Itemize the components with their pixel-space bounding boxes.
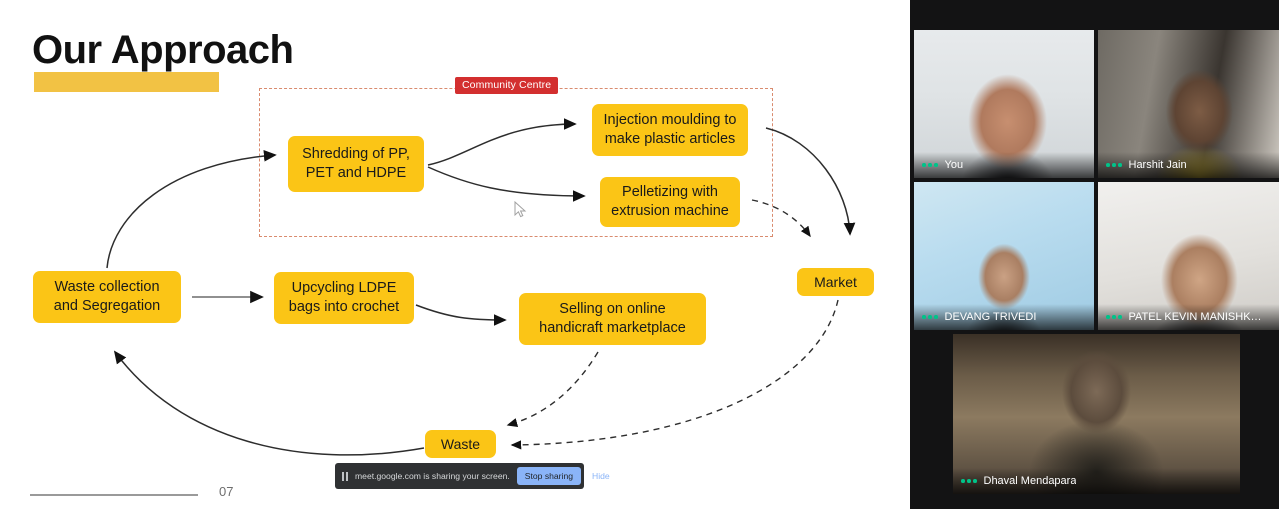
- node-upcycling-ldpe[interactable]: Upcycling LDPE bags into crochet: [274, 272, 414, 324]
- footer-rule: [30, 494, 198, 496]
- participant-tile-dhaval-mendapara[interactable]: Dhaval Mendapara: [953, 334, 1240, 494]
- audio-indicator-icon: [1106, 163, 1122, 167]
- participant-name: Harshit Jain: [1129, 159, 1187, 171]
- node-pelletizing[interactable]: Pelletizing with extrusion machine: [600, 177, 740, 227]
- audio-indicator-icon: [1106, 315, 1122, 319]
- nameplate: You: [914, 152, 1094, 178]
- audio-indicator-icon: [922, 315, 938, 319]
- share-message: meet.google.com is sharing your screen.: [355, 471, 510, 481]
- node-market[interactable]: Market: [797, 268, 874, 296]
- participant-tile-harshit-jain[interactable]: Harshit Jain: [1098, 30, 1279, 178]
- node-shredding[interactable]: Shredding of PP, PET and HDPE: [288, 136, 424, 192]
- node-online-selling[interactable]: Selling on online handicraft marketplace: [519, 293, 706, 345]
- nameplate: Harshit Jain: [1098, 152, 1279, 178]
- participant-name: You: [945, 159, 964, 171]
- mouse-cursor: [514, 201, 528, 219]
- nameplate: DEVANG TRIVEDI: [914, 304, 1094, 330]
- participant-name: DEVANG TRIVEDI: [945, 311, 1037, 323]
- participant-rail: You Harshit Jain DEVANG TRIVEDI PATEL KE…: [910, 0, 1279, 509]
- presentation-slide: Our Approach Community Centre: [0, 0, 910, 509]
- node-waste-collection[interactable]: Waste collection and Segregation: [33, 271, 181, 323]
- page-number: 07: [219, 484, 233, 499]
- participant-tile-you[interactable]: You: [914, 30, 1094, 178]
- hide-button[interactable]: Hide: [588, 471, 614, 481]
- nameplate: Dhaval Mendapara: [953, 468, 1240, 494]
- screen-share-view: Our Approach Community Centre: [0, 0, 1279, 509]
- participant-name: PATEL KEVIN MANISHK…: [1129, 311, 1262, 323]
- stop-sharing-button[interactable]: Stop sharing: [517, 467, 581, 485]
- node-waste[interactable]: Waste: [425, 430, 496, 458]
- participant-name: Dhaval Mendapara: [984, 475, 1077, 487]
- nameplate: PATEL KEVIN MANISHK…: [1098, 304, 1279, 330]
- audio-indicator-icon: [961, 479, 977, 483]
- participant-tile-devang-trivedi[interactable]: DEVANG TRIVEDI: [914, 182, 1094, 330]
- participant-tile-patel-kevin[interactable]: PATEL KEVIN MANISHK…: [1098, 182, 1279, 330]
- node-injection-moulding[interactable]: Injection moulding to make plastic artic…: [592, 104, 748, 156]
- screen-share-bar: meet.google.com is sharing your screen. …: [335, 463, 584, 489]
- pause-icon: [342, 472, 348, 481]
- audio-indicator-icon: [922, 163, 938, 167]
